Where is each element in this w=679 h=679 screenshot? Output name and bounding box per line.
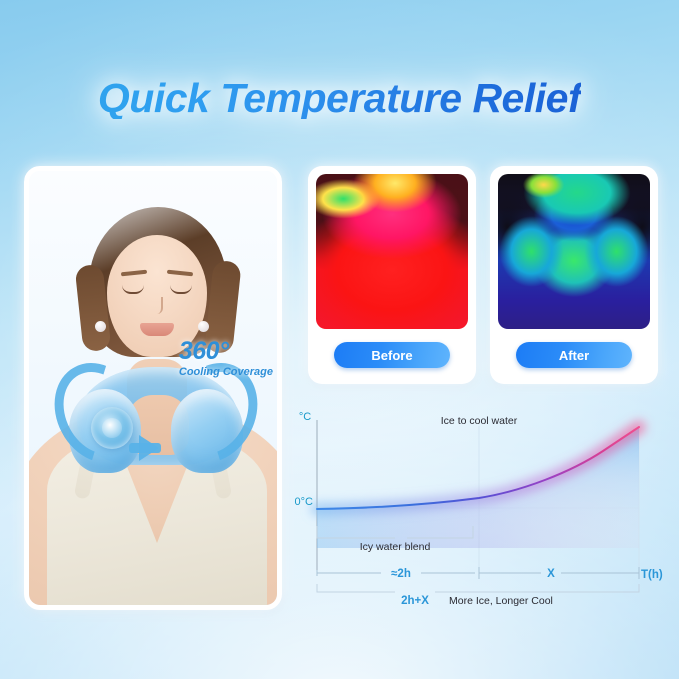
marketing-image: Quick Temperature Relief	[0, 0, 679, 679]
eyebrow-right	[167, 270, 193, 277]
page-title: Quick Temperature Relief	[98, 78, 581, 119]
page-title-wrap: Quick Temperature Relief	[0, 78, 679, 119]
eye-left	[122, 285, 144, 294]
chart-x-axis-title: T(h)	[641, 569, 663, 581]
chart-phase-label: Icy water blend	[360, 541, 431, 553]
coverage-badge: 360° Cooling Coverage	[179, 339, 273, 379]
eyebrow-left	[121, 270, 147, 277]
airflow-arrow-icon	[139, 435, 159, 461]
coverage-badge-number: 360°	[179, 339, 273, 364]
thermal-image-after	[498, 174, 650, 329]
before-button[interactable]: Before	[334, 342, 450, 368]
temperature-chart: °C 0°C Ice to cool water Icy water blend…	[283, 398, 675, 620]
pearl-earring-left	[95, 321, 106, 332]
chart-total-bracket	[317, 584, 639, 592]
thermal-image-before	[316, 174, 468, 329]
thermal-card-after: After	[490, 166, 658, 384]
chart-total-caption: More Ice, Longer Cool	[449, 595, 553, 607]
after-button[interactable]: After	[516, 342, 632, 368]
chart-zero-label: 0°C	[295, 496, 314, 508]
nose	[154, 297, 163, 314]
chart-y-axis-label: °C	[299, 411, 311, 423]
mouth	[140, 323, 174, 336]
eye-right	[170, 285, 192, 294]
product-photo: 360° Cooling Coverage	[29, 171, 277, 605]
chart-x-axis	[317, 567, 639, 579]
thermal-card-before: Before	[308, 166, 476, 384]
coverage-badge-caption: Cooling Coverage	[179, 366, 273, 379]
chart-plot-title: Ice to cool water	[441, 415, 518, 427]
temperature-chart-svg: °C 0°C Ice to cool water Icy water blend…	[283, 398, 675, 620]
product-photo-card: 360° Cooling Coverage	[24, 166, 282, 610]
chart-area-fill-vertical	[317, 427, 639, 550]
chart-total-label: 2h+X	[401, 595, 429, 607]
chart-segment-1-label: ≈2h	[391, 568, 411, 580]
chart-segment-2-label: X	[547, 568, 555, 580]
pearl-earring-right	[198, 321, 209, 332]
